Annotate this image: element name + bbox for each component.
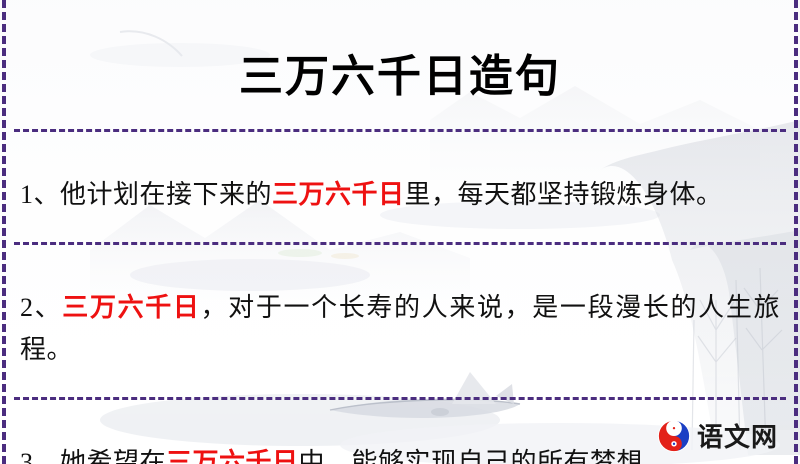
sentence-1-after: 里，每天都坚持锻炼身体。 bbox=[405, 180, 723, 209]
sentence-3-after: 中，能够实现自己的所有梦想。 bbox=[299, 448, 670, 464]
sentence-item-2: 2、三万六千日，对于一个长寿的人来说，是一段漫长的人生旅程。 bbox=[14, 271, 786, 371]
sentence-3-keyword: 三万六千日 bbox=[166, 448, 299, 464]
sentence-2-number: 2、 bbox=[20, 293, 62, 322]
separator-2 bbox=[14, 242, 786, 245]
sentence-3-number: 3、 bbox=[20, 448, 60, 464]
frame-left-dashed-border bbox=[2, 0, 6, 464]
page-title: 三万六千日造句 bbox=[14, 29, 786, 99]
sentence-worksheet-page: 三万六千日造句 1、他计划在接下来的三万六千日里，每天都坚持锻炼身体。 2、三万… bbox=[0, 0, 800, 464]
sentence-1-before: 他计划在接下来的 bbox=[60, 180, 272, 209]
site-logo-text: 语文网 bbox=[697, 417, 778, 454]
separator-1 bbox=[14, 129, 786, 132]
sentence-1-keyword: 三万六千日 bbox=[272, 180, 405, 209]
sentence-3-before: 她希望在 bbox=[60, 448, 166, 464]
separator-3 bbox=[14, 397, 786, 400]
frame-right-dashed-border bbox=[794, 0, 798, 464]
content-column: 三万六千日造句 1、他计划在接下来的三万六千日里，每天都坚持锻炼身体。 2、三万… bbox=[14, 0, 786, 464]
sentence-1-number: 1、 bbox=[20, 180, 60, 209]
sentence-item-1: 1、他计划在接下来的三万六千日里，每天都坚持锻炼身体。 bbox=[14, 158, 786, 216]
sentence-2-keyword: 三万六千日 bbox=[62, 293, 200, 322]
site-logo[interactable]: 语文网 bbox=[657, 417, 778, 454]
yinyang-fish-logo-icon bbox=[657, 419, 691, 453]
